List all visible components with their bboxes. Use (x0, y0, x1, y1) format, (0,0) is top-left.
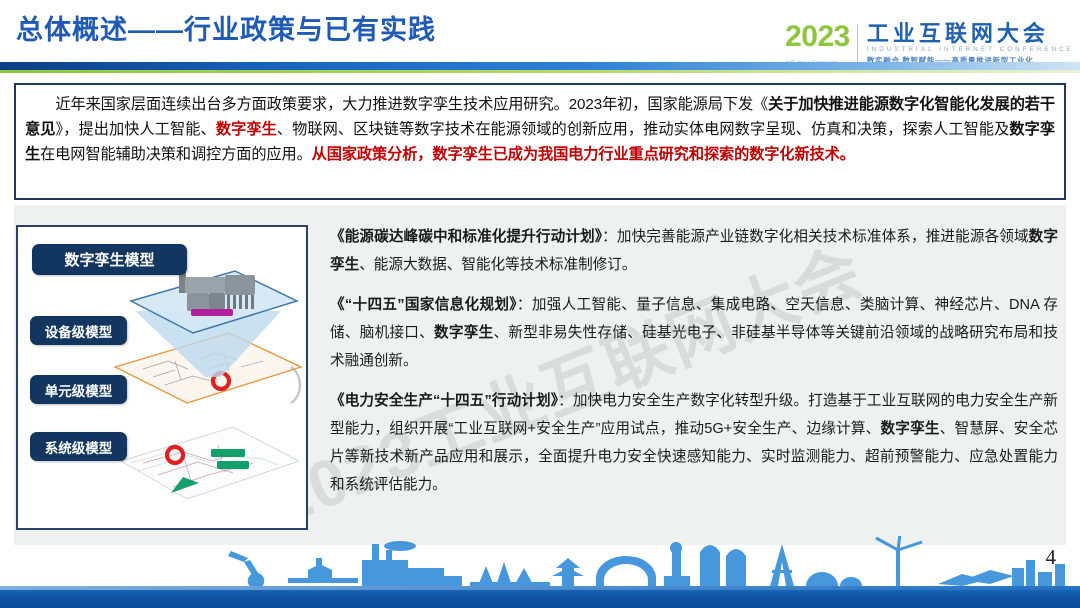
logo-year-block: 2023 中国·苏州 9月11日-13日 (785, 22, 850, 67)
intro-paragraph: 近年来国家层面连续出台多方面政策要求，大力推进数字孪生技术应用研究。2023年初… (25, 92, 1055, 167)
policy-colon: ： (558, 393, 573, 409)
policy-item: 《电力安全生产“十四五”行动计划》：加快电力安全生产数字化转型升级。打造基于工业… (330, 387, 1058, 499)
logo-text-block: 工业互联网大会 INDUSTRIAL INTERNET CONFERENCE 数… (867, 22, 1074, 65)
policy-item: 《能源碳达峰碳中和标准化提升行动计划》：加快完善能源产业链数字化相关技术标准体系… (330, 223, 1058, 279)
policy-title: 《能源碳达峰碳中和标准化提升行动计划》 (330, 229, 602, 245)
footer: 4 (0, 536, 1080, 608)
city-skyline-illustration (0, 536, 1080, 588)
policy-body-b: 、能源大数据、智能化等技术标准制修订。 (359, 257, 636, 273)
flow-arrow (291, 367, 300, 403)
policy-list: 《能源碳达峰碳中和标准化提升行动计划》：加快完善能源产业链数字化相关技术标准体系… (330, 223, 1058, 543)
header-green-line (0, 70, 1080, 73)
logo-name-cn: 工业互联网大会 (867, 22, 1074, 45)
diagram-label-system-level: 系统级模型 (30, 432, 127, 461)
para-seg-red-1: 数字孪生 (216, 121, 277, 138)
para-seg-1: 近年来国家层面连续出台多方面政策要求，大力推进数字孪生技术应用研究。2023年初… (55, 96, 768, 113)
policy-item: 《“十四五”国家信息化规划》：加强人工智能、量子信息、集成电路、空天信息、类脑计… (330, 291, 1058, 375)
header-gradient-bar (0, 62, 1080, 70)
logo-name-en: INDUSTRIAL INTERNET CONFERENCE (867, 47, 1074, 54)
diagram-label-unit-level: 单元级模型 (30, 375, 127, 404)
para-seg-3: 、物联网、区块链等数字技术在能源领域的创新应用，推动实体电网数字呈现、仿真和决策… (277, 121, 1010, 138)
conference-logo: 2023 中国·苏州 9月11日-13日 工业互联网大会 INDUSTRIAL … (785, 22, 1074, 67)
page-title: 总体概述——行业政策与已有实践 (16, 8, 436, 47)
policy-body-a: 加快完善能源产业链数字化相关技术标准体系，推进能源各领域 (617, 229, 1029, 245)
para-seg-4: 在电网智能辅助决策和调控方面的应用。 (40, 146, 312, 163)
policy-body-bold: 数字孪生 (881, 421, 940, 437)
diagram-label-main: 数字孪生模型 (32, 244, 187, 275)
logo-divider (857, 24, 858, 65)
digital-twin-model-diagram: 数字孪生模型 设备级模型 单元级模型 系统级模型 (16, 225, 308, 530)
policy-title: 《“十四五”国家信息化规划》 (330, 297, 517, 313)
content-area: 2023工业互联网大会 (0, 205, 1080, 550)
diagram-label-device-level: 设备级模型 (30, 316, 127, 345)
para-seg-red-2: 从国家政策分析，数字孪生已成为我国电力行业重点研究和探索的数字化新技术。 (312, 146, 855, 163)
page-number: 4 (1046, 545, 1057, 570)
policy-colon: ： (602, 229, 617, 245)
policy-body-bold: 数字孪生 (434, 325, 493, 341)
policy-title: 《电力安全生产“十四五”行动计划》 (330, 393, 558, 409)
footer-wave-band (0, 586, 1080, 608)
layered-model-illustration (113, 249, 303, 519)
logo-year: 2023 (785, 22, 850, 52)
policy-colon: ： (517, 297, 532, 313)
intro-paragraph-box: 近年来国家层面连续出台多方面政策要求，大力推进数字孪生技术应用研究。2023年初… (14, 83, 1066, 200)
para-seg-2: 》，提出加快人工智能、 (56, 121, 216, 138)
slide-root: 总体概述——行业政策与已有实践 2023 中国·苏州 9月11日-13日 工业互… (0, 0, 1080, 608)
system-level-layer (121, 427, 299, 499)
